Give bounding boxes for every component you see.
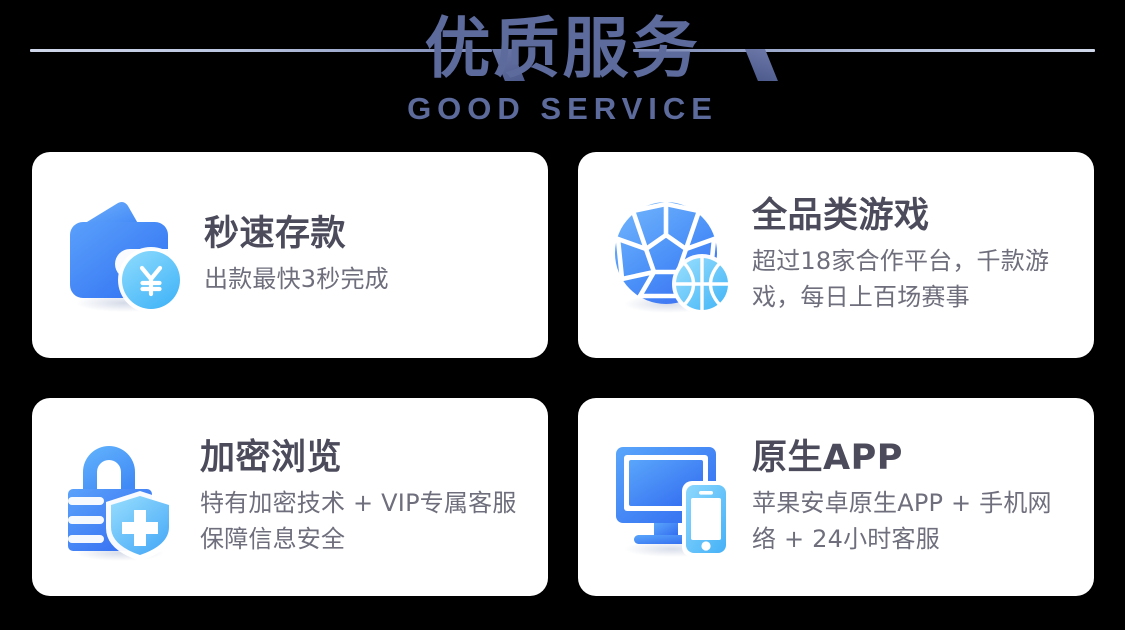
feature-card-text: 原生APP 苹果安卓原生APP + 手机网络 + 24小时客服	[752, 437, 1072, 557]
feature-card-secure[interactable]: 加密浏览 特有加密技术 + VIP专属客服保障信息安全	[32, 398, 548, 596]
banner-header: 优质服务 GOOD SERVICE	[0, 0, 1125, 140]
soccer-basketball-icon	[610, 191, 738, 319]
feature-card-title: 全品类游戏	[752, 195, 1072, 237]
feature-card-grid: 秒速存款 出款最快3秒完成	[32, 152, 1094, 596]
feature-card-desc: 特有加密技术 + VIP专属客服保障信息安全	[200, 485, 526, 557]
feature-card-title: 秒速存款	[204, 213, 526, 255]
monitor-phone-icon	[610, 433, 738, 561]
feature-card-desc: 出款最快3秒完成	[204, 261, 526, 297]
feature-card-title: 原生APP	[752, 437, 1072, 479]
feature-card-text: 秒速存款 出款最快3秒完成	[204, 213, 526, 297]
feature-card-deposit[interactable]: 秒速存款 出款最快3秒完成	[32, 152, 548, 358]
banner-title-en: GOOD SERVICE	[0, 88, 1125, 126]
feature-card-app[interactable]: 原生APP 苹果安卓原生APP + 手机网络 + 24小时客服	[578, 398, 1094, 596]
feature-card-text: 全品类游戏 超过18家合作平台，千款游戏，每日上百场赛事	[752, 195, 1072, 315]
feature-card-games[interactable]: 全品类游戏 超过18家合作平台，千款游戏，每日上百场赛事	[578, 152, 1094, 358]
feature-card-desc: 超过18家合作平台，千款游戏，每日上百场赛事	[752, 243, 1072, 315]
lock-shield-icon	[64, 431, 186, 563]
banner-title-cn: 优质服务	[0, 0, 1125, 88]
banner-title-block: 优质服务 GOOD SERVICE	[0, 0, 1125, 126]
feature-card-desc: 苹果安卓原生APP + 手机网络 + 24小时客服	[752, 485, 1072, 557]
promo-banner: 优质服务 GOOD SERVICE	[0, 0, 1125, 630]
feature-card-title: 加密浏览	[200, 437, 526, 479]
feature-card-text: 加密浏览 特有加密技术 + VIP专属客服保障信息安全	[200, 437, 526, 557]
wallet-yen-icon	[62, 191, 190, 319]
